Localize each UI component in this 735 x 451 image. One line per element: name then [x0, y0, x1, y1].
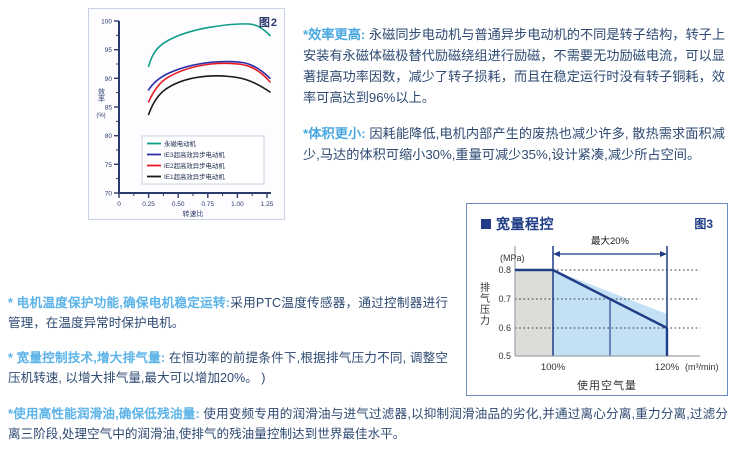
legend-label-ie2: IE2超高效异步电动机: [164, 161, 225, 170]
chart3-ytick-07: 0.7: [498, 294, 511, 304]
chart1-x-axis-title: 转速比: [183, 209, 204, 218]
feature-efficiency-heading: *效率更高:: [303, 27, 365, 42]
feature-volume: *体积更小: 因耗能降低,电机内部产生的废热也减少许多, 散热需求面积减少,马达…: [303, 123, 725, 165]
feature-efficiency-body: 永磁同步电动机与普通异步电动机的不同是转子结构，转子上安装有永磁体磁极替代励磁绕…: [303, 27, 725, 105]
chart3-x-axis-title: 使用空气量: [577, 378, 637, 392]
chart3-x-unit: (m³/min): [685, 362, 719, 372]
feature-volume-body: 因耗能降低,电机内部产生的废热也减少许多, 散热需求面积减少,马达的体积可缩小3…: [303, 126, 725, 162]
square-bullet-icon: [481, 219, 491, 229]
legend-label-ie1: IE1超高效异步电动机: [164, 172, 225, 181]
chart3-ytick-06: 0.6: [498, 323, 511, 333]
chart1-xtick-100: 1.00: [231, 201, 244, 208]
feature-volume-heading: *体积更小:: [303, 126, 366, 141]
chart3-ytick-08: 0.8: [498, 265, 511, 275]
chart1-y-axis-unit: (%): [96, 113, 105, 119]
chart1-ytick-85: 85: [105, 105, 113, 112]
chart3-y-unit: (MPa): [500, 253, 525, 263]
feature-efficiency: *效率更高: 永磁同步电动机与普通异步电动机的不同是转子结构，转子上安装有永磁体…: [303, 24, 725, 108]
feature-temperature-protection: * 电机温度保护功能,确保电机稳定运转:采用PTC温度传感器，通过控制器进行管理…: [8, 293, 448, 333]
chart1-ytick-70: 70: [105, 191, 113, 198]
chart1-ytick-95: 95: [105, 47, 113, 54]
feature-temperature-protection-heading: * 电机温度保护功能,确保电机稳定运转:: [8, 296, 230, 310]
chart1-xtick-050: 0.50: [172, 201, 185, 208]
chart1-xtick-125: 1.25: [261, 201, 274, 208]
chart1-xtick-075: 0.75: [201, 201, 214, 208]
series-line-ie1: [149, 76, 270, 115]
chart1-ytick-75: 75: [105, 162, 113, 169]
max-20-label: 最大20%: [591, 235, 630, 247]
fixed-region: [515, 270, 553, 356]
feature-lubricant-heading: *使用高性能润滑油,确保低残油量:: [8, 407, 200, 421]
chart1-ytick-90: 90: [105, 76, 113, 83]
feature-lubricant: *使用高性能润滑油,确保低残油量: 使用变频专用的润滑油与进气过滤器,以抑制润滑…: [8, 404, 728, 444]
chart1-xtick-0: 0: [117, 201, 121, 208]
chart3-title: 宽量程控: [496, 214, 554, 234]
legend-label-ie3: IE3超高效异步电动机: [164, 150, 225, 159]
chart3-xtick-100: 100%: [541, 362, 566, 373]
feature-wide-range-control-heading: * 宽量控制技术,增大排气量:: [8, 351, 165, 365]
chart3-figure-label: 图3: [694, 215, 713, 232]
chart1-xtick-025: 0.25: [142, 201, 155, 208]
efficiency-chart-panel: 图2: [88, 8, 285, 220]
chart3-ytick-05: 0.5: [498, 351, 511, 361]
legend-label-permanent-magnet: 永磁电动机: [164, 139, 197, 148]
chart3-header: 宽量程控: [481, 214, 554, 234]
efficiency-line-chart: 100 95 90 85 80 75 70 0 0.25 0.50 0.75 1…: [89, 9, 284, 219]
max-20-annotation: 最大20%: [553, 235, 667, 257]
chart1-legend: 永磁电动机 IE3超高效异步电动机 IE2超高效异步电动机 IE1超高效异步电动…: [142, 136, 264, 184]
chart1-ytick-100: 100: [101, 19, 112, 26]
chart3-xtick-120: 120%: [655, 362, 680, 373]
wide-range-chart-panel: 宽量程控 图3 最大20% (MPa): [466, 203, 728, 396]
chart1-figure-label: 图2: [259, 14, 278, 30]
chart1-y-axis-title: 效率: [98, 87, 106, 103]
chart3-y-axis-title: 排气压力: [478, 281, 490, 326]
series-line-permanent-magnet: [149, 24, 270, 66]
feature-wide-range-control: * 宽量控制技术,增大排气量: 在恒功率的前提条件下,根据排气压力不同, 调整空…: [8, 348, 448, 388]
chart1-ytick-80: 80: [105, 133, 113, 140]
